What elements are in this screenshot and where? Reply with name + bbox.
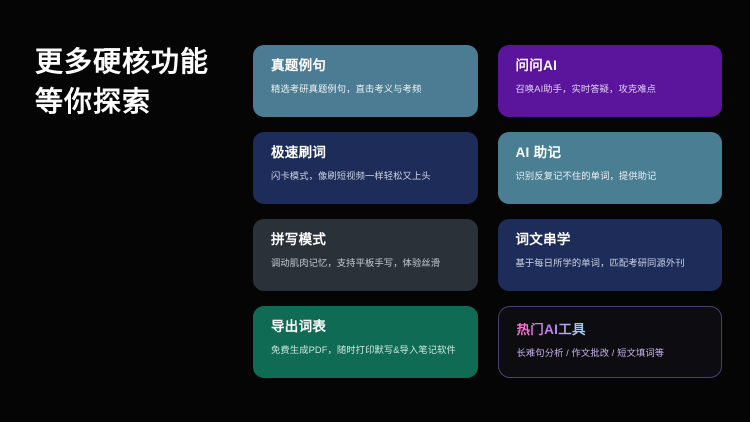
card-title: 极速刷词: [271, 146, 460, 161]
card-description: 基于每日所学的单词，匹配考研同源外刊: [516, 258, 705, 269]
page-title: 更多硬核功能 等你探索: [35, 42, 253, 122]
feature-card-ciwenchuanxue[interactable]: 词文串学 基于每日所学的单词，匹配考研同源外刊: [498, 219, 723, 291]
feature-slide: 更多硬核功能 等你探索 真题例句 精选考研真题例句，直击考义与考频 极速刷词 闪…: [0, 0, 750, 422]
card-title: 热门AI工具: [517, 323, 586, 338]
feature-card-zhentilijv[interactable]: 真题例句 精选考研真题例句，直击考义与考频: [253, 45, 478, 117]
card-description: 长难句分析 / 作文批改 / 短文填词等: [517, 348, 704, 359]
feature-card-wenwen-ai[interactable]: 问问AI 召唤AI助手，实时答疑，攻克难点: [498, 45, 723, 117]
card-title: 问问AI: [516, 59, 705, 74]
card-description: 召唤AI助手，实时答疑，攻克难点: [516, 84, 705, 95]
card-description: 识别反复记不住的单词，提供助记: [516, 171, 705, 182]
page-title-line-2: 等你探索: [35, 82, 253, 122]
feature-card-ai-zhuji[interactable]: AI 助记 识别反复记不住的单词，提供助记: [498, 132, 723, 204]
card-title: AI 助记: [516, 146, 705, 161]
card-title: 词文串学: [516, 233, 705, 248]
feature-column-left: 真题例句 精选考研真题例句，直击考义与考频 极速刷词 闪卡模式，像刷短视频一样轻…: [253, 45, 478, 422]
card-description: 免费生成PDF，随时打印默写&导入笔记软件: [271, 345, 460, 356]
feature-card-jisushuaci[interactable]: 极速刷词 闪卡模式，像刷短视频一样轻松又上头: [253, 132, 478, 204]
feature-column-right: 问问AI 召唤AI助手，实时答疑，攻克难点 AI 助记 识别反复记不住的单词，提…: [498, 45, 723, 422]
card-description: 精选考研真题例句，直击考义与考频: [271, 84, 460, 95]
page-title-line-1: 更多硬核功能: [35, 42, 253, 82]
card-title: 拼写模式: [271, 233, 460, 248]
card-description: 闪卡模式，像刷短视频一样轻松又上头: [271, 171, 460, 182]
card-description: 调动肌肉记忆，支持平板手写，体验丝滑: [271, 258, 460, 269]
feature-card-pinxiemoshi[interactable]: 拼写模式 调动肌肉记忆，支持平板手写，体验丝滑: [253, 219, 478, 291]
feature-card-grid: 真题例句 精选考研真题例句，直击考义与考频 极速刷词 闪卡模式，像刷短视频一样轻…: [253, 0, 750, 422]
heading-block: 更多硬核功能 等你探索: [0, 0, 253, 122]
card-title: 导出词表: [271, 320, 460, 335]
card-title: 真题例句: [271, 59, 460, 74]
feature-card-remen-ai-gongju[interactable]: 热门AI工具 长难句分析 / 作文批改 / 短文填词等: [498, 306, 723, 378]
feature-card-daochucibiao[interactable]: 导出词表 免费生成PDF，随时打印默写&导入笔记软件: [253, 306, 478, 378]
